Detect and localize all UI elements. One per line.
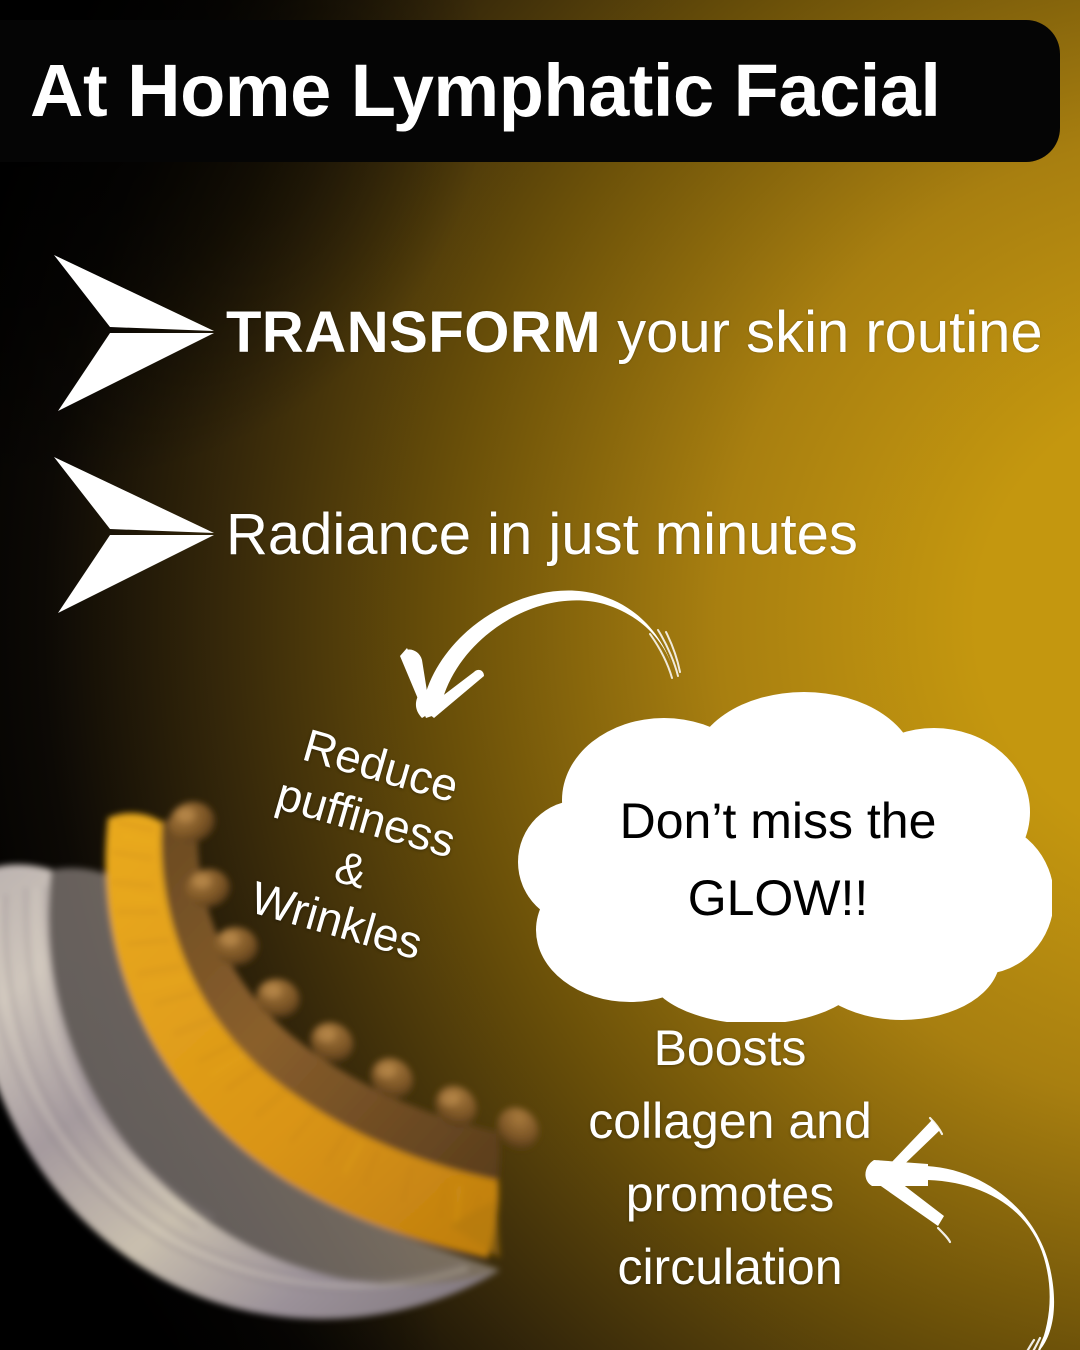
benefit-text-block: Boosts collagen and promotes circulation xyxy=(540,1012,920,1304)
bullet-row-transform: TRANSFORM your skin routine xyxy=(52,253,1043,413)
bullet-text-radiance: Radiance in just minutes xyxy=(226,506,858,564)
benefit-line-4: circulation xyxy=(540,1231,920,1304)
bullet-rest-1: your skin routine xyxy=(601,300,1043,365)
title-banner: At Home Lymphatic Facial xyxy=(0,20,1060,162)
thought-bubble-text: Don’t miss the GLOW!! xyxy=(504,692,1052,1022)
thought-bubble: Don’t miss the GLOW!! xyxy=(504,692,1052,1022)
arrowhead-right-icon xyxy=(52,455,216,615)
bullet-rest-2: Radiance in just minutes xyxy=(226,502,858,567)
benefit-line-3: promotes xyxy=(540,1158,920,1231)
page-title: At Home Lymphatic Facial xyxy=(30,54,940,128)
poster-canvas: At Home Lymphatic Facial TRANSFORM your … xyxy=(0,0,1080,1350)
benefit-line-1: Boosts xyxy=(540,1012,920,1085)
arrowhead-right-icon xyxy=(52,253,216,413)
bullet-strong-1: TRANSFORM xyxy=(226,300,601,365)
benefit-line-2: collagen and xyxy=(540,1085,920,1158)
bubble-line-2: GLOW!! xyxy=(688,860,869,938)
bullet-text-transform: TRANSFORM your skin routine xyxy=(226,304,1043,362)
bubble-line-1: Don’t miss the xyxy=(620,783,937,861)
